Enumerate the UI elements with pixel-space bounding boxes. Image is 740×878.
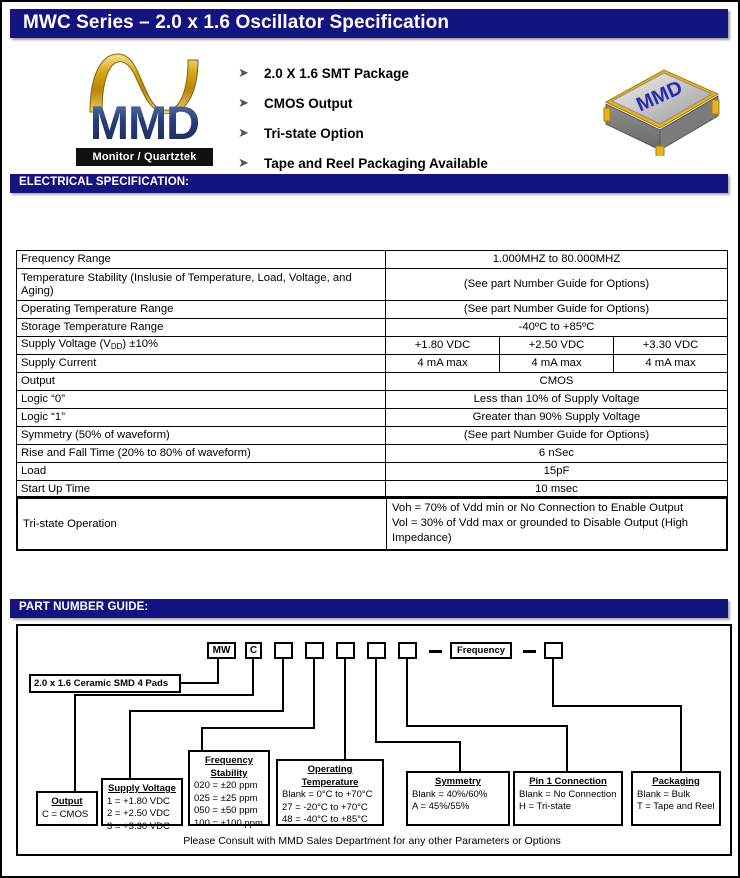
callout-item: Blank = 40%/60% bbox=[412, 789, 504, 802]
list-item: ➤ 2.0 X 1.6 SMT Package bbox=[238, 60, 558, 87]
callout-item: 2 = +2.50 VDC bbox=[107, 808, 177, 821]
spec-value: Less than 10% of Supply Voltage bbox=[386, 391, 728, 409]
logo-tagline: Monitor / Quartztek bbox=[76, 148, 213, 166]
pn-box-mw: MW bbox=[207, 642, 236, 659]
spec-value: 4 mA max bbox=[386, 355, 500, 373]
callout-item: T = Tape and Reel bbox=[637, 801, 715, 814]
spec-value: (See part Number Guide for Options) bbox=[386, 301, 728, 319]
spec-value: +2.50 VDC bbox=[500, 337, 614, 355]
electrical-spec-table: Frequency Range 1.000MHZ to 80.000MHZ Te… bbox=[16, 250, 728, 499]
list-item: ➤ Tri-state Option bbox=[238, 120, 558, 147]
table-row: Tri-state Operation Voh = 70% of Vdd min… bbox=[17, 497, 727, 550]
spec-param: Logic “0” bbox=[17, 391, 386, 409]
list-item: ➤ Tape and Reel Packaging Available bbox=[238, 150, 558, 177]
title-bar: MWC Series – 2.0 x 1.6 Oscillator Specif… bbox=[10, 9, 728, 38]
table-row: Load 15pF bbox=[17, 463, 728, 481]
spec-value: 4 mA max bbox=[614, 355, 728, 373]
callout-item: A = 45%/55% bbox=[412, 801, 504, 814]
part-number-guide-diagram: MW C Frequency 2.0 x 1.6 Ceramic SMD 4 P… bbox=[16, 624, 732, 856]
callout-item: 050 = ±50 ppm bbox=[194, 805, 264, 818]
table-row: Symmetry (50% of waveform) (See part Num… bbox=[17, 427, 728, 445]
pn-box-packaging bbox=[544, 642, 563, 659]
arrow-bullet-icon: ➤ bbox=[238, 96, 264, 111]
callout-pin1-connection: Pin 1 Connection Blank = No Connection H… bbox=[513, 771, 623, 826]
list-item: ➤ CMOS Output bbox=[238, 90, 558, 117]
arrow-bullet-icon: ➤ bbox=[238, 156, 264, 171]
vdd-subscript: DD bbox=[111, 342, 123, 351]
spec-param: Operating Temperature Range bbox=[17, 301, 386, 319]
pn-dash-1 bbox=[429, 650, 442, 653]
callout-title: Output bbox=[42, 796, 92, 809]
bullet-label: CMOS Output bbox=[264, 96, 352, 111]
pn-box-6 bbox=[367, 642, 386, 659]
spec-param: Logic “1” bbox=[17, 409, 386, 427]
callout-packaging: Packaging Blank = Bulk T = Tape and Reel bbox=[631, 771, 721, 826]
tristate-value: Voh = 70% of Vdd min or No Connection to… bbox=[387, 497, 728, 550]
mmd-logo: MMD Monitor / Quartztek bbox=[62, 52, 227, 168]
table-row: Operating Temperature Range (See part Nu… bbox=[17, 301, 728, 319]
callout-item: Blank = No Connection bbox=[519, 789, 617, 802]
tristate-param: Tri-state Operation bbox=[17, 497, 387, 550]
callout-item: 48 = -40°C to +85°C bbox=[282, 814, 378, 827]
oscillator-package-image: MMD bbox=[598, 60, 726, 156]
table-row: Storage Temperature Range -40ºC to +85ºC bbox=[17, 319, 728, 337]
table-row: Supply Voltage (VDD) ±10% +1.80 VDC +2.5… bbox=[17, 337, 728, 355]
leader-b3-v2 bbox=[129, 710, 131, 780]
callout-frequency-stability: Frequency Stability 020 = ±20 ppm 025 = … bbox=[188, 750, 270, 826]
table-row: Temperature Stability (Inslusie of Tempe… bbox=[17, 269, 728, 301]
callout-operating-temperature: Operating Temperature Blank = 0°C to +70… bbox=[276, 759, 384, 826]
leader-b4-h bbox=[201, 727, 315, 729]
spec-param: Supply Voltage (VDD) ±10% bbox=[17, 337, 386, 355]
bullet-label: 2.0 X 1.6 SMT Package bbox=[264, 66, 409, 81]
pn-box-4 bbox=[305, 642, 324, 659]
callout-item: C = CMOS bbox=[42, 809, 92, 822]
tristate-line-2: Vol = 30% of Vdd max or grounded to Disa… bbox=[392, 517, 688, 544]
pn-box-3 bbox=[274, 642, 293, 659]
leader-pk-h bbox=[552, 705, 682, 707]
datasheet-page: MWC Series – 2.0 x 1.6 Oscillator Specif… bbox=[0, 0, 740, 878]
spec-param: Frequency Range bbox=[17, 251, 386, 269]
callout-item: 1 = +1.80 VDC bbox=[107, 796, 177, 809]
tristate-line-1: Voh = 70% of Vdd min or No Connection to… bbox=[392, 502, 683, 514]
callout-title-2: Stability bbox=[194, 768, 264, 781]
spec-param: Storage Temperature Range bbox=[17, 319, 386, 337]
spec-value: 1.000MHZ to 80.000MHZ bbox=[386, 251, 728, 269]
table-row: Logic “0” Less than 10% of Supply Voltag… bbox=[17, 391, 728, 409]
leader-c-h bbox=[74, 694, 254, 696]
section-title: ELECTRICAL SPECIFICATION: bbox=[19, 176, 189, 188]
feature-bullet-list: ➤ 2.0 X 1.6 SMT Package ➤ CMOS Output ➤ … bbox=[238, 60, 558, 180]
callout-item: Blank = 0°C to +70°C bbox=[282, 789, 378, 802]
callout-symmetry: Symmetry Blank = 40%/60% A = 45%/55% bbox=[406, 771, 510, 826]
arrow-bullet-icon: ➤ bbox=[238, 126, 264, 141]
spec-param: Temperature Stability (Inslusie of Tempe… bbox=[17, 269, 386, 301]
leader-pk-v1 bbox=[552, 659, 554, 707]
spec-value: -40ºC to +85ºC bbox=[386, 319, 728, 337]
callout-item: 020 = ±20 ppm bbox=[194, 780, 264, 793]
table-row: Supply Current 4 mA max 4 mA max 4 mA ma… bbox=[17, 355, 728, 373]
tristate-operation-table: Tri-state Operation Voh = 70% of Vdd min… bbox=[16, 496, 728, 551]
logo-wordmark: MMD bbox=[62, 100, 227, 145]
page-title: MWC Series – 2.0 x 1.6 Oscillator Specif… bbox=[23, 12, 449, 34]
callout-title-2: Temperature bbox=[282, 777, 378, 790]
spec-param: Rise and Fall Time (20% to 80% of wavefo… bbox=[17, 445, 386, 463]
callout-item: 100 = ±100 ppm bbox=[194, 818, 264, 831]
table-row: Rise and Fall Time (20% to 80% of wavefo… bbox=[17, 445, 728, 463]
spec-param: Supply Current bbox=[17, 355, 386, 373]
spec-value: 15pF bbox=[386, 463, 728, 481]
spec-value: CMOS bbox=[386, 373, 728, 391]
callout-supply-voltage: Supply Voltage 1 = +1.80 VDC 2 = +2.50 V… bbox=[101, 778, 183, 826]
footer-note: Please Consult with MMD Sales Department… bbox=[2, 835, 740, 847]
pn-box-7 bbox=[398, 642, 417, 659]
leader-b4-v2 bbox=[201, 727, 203, 751]
callout-title: Operating bbox=[282, 764, 378, 777]
callout-title: Packaging bbox=[637, 776, 715, 789]
leader-c-v1 bbox=[252, 659, 254, 696]
section-header-part-number-guide: PART NUMBER GUIDE: bbox=[10, 599, 728, 618]
spec-value: +1.80 VDC bbox=[386, 337, 500, 355]
spec-value: 6 nSec bbox=[386, 445, 728, 463]
spec-value: (See part Number Guide for Options) bbox=[386, 427, 728, 445]
bullet-label: Tri-state Option bbox=[264, 126, 364, 141]
callout-item: 27 = -20°C to +70°C bbox=[282, 802, 378, 815]
spec-param: Load bbox=[17, 463, 386, 481]
spec-value: 4 mA max bbox=[500, 355, 614, 373]
callout-item: 025 = ±25 ppm bbox=[194, 793, 264, 806]
section-title: PART NUMBER GUIDE: bbox=[19, 601, 148, 613]
spec-value: Greater than 90% Supply Voltage bbox=[386, 409, 728, 427]
bullet-label: Tape and Reel Packaging Available bbox=[264, 156, 488, 171]
table-row: Output CMOS bbox=[17, 373, 728, 391]
leader-b6-h bbox=[375, 741, 461, 743]
callout-item: H = Tri-state bbox=[519, 801, 617, 814]
leader-b7-v1 bbox=[406, 659, 408, 727]
callout-title: Symmetry bbox=[412, 776, 504, 789]
pn-box-frequency: Frequency bbox=[450, 642, 512, 659]
hero-section: MMD Monitor / Quartztek ➤ 2.0 X 1.6 SMT … bbox=[10, 42, 728, 172]
section-header-electrical: ELECTRICAL SPECIFICATION: bbox=[10, 174, 728, 193]
pn-box-5 bbox=[336, 642, 355, 659]
leader-b7-v2 bbox=[566, 725, 568, 772]
callout-title: Supply Voltage bbox=[107, 783, 177, 796]
callout-title: Pin 1 Connection bbox=[519, 776, 617, 789]
leader-b7-h bbox=[406, 725, 568, 727]
spec-value: +3.30 VDC bbox=[614, 337, 728, 355]
spec-value: (See part Number Guide for Options) bbox=[386, 269, 728, 301]
callout-item: 3 = +3.30 VDC bbox=[107, 821, 177, 834]
leader-package-v bbox=[217, 659, 219, 684]
spec-param: Output bbox=[17, 373, 386, 391]
pn-dash-2 bbox=[523, 650, 536, 653]
table-row: Frequency Range 1.000MHZ to 80.000MHZ bbox=[17, 251, 728, 269]
leader-package-h bbox=[181, 682, 219, 684]
leader-b3-h bbox=[129, 710, 284, 712]
leader-c-v2 bbox=[74, 694, 76, 793]
pn-box-c: C bbox=[245, 642, 262, 659]
table-row: Logic “1” Greater than 90% Supply Voltag… bbox=[17, 409, 728, 427]
callout-item: Blank = Bulk bbox=[637, 789, 715, 802]
spec-param: Symmetry (50% of waveform) bbox=[17, 427, 386, 445]
callout-output: Output C = CMOS bbox=[36, 791, 98, 826]
leader-b4-v1 bbox=[313, 659, 315, 729]
callout-title: Frequency bbox=[194, 755, 264, 768]
arrow-bullet-icon: ➤ bbox=[238, 66, 264, 81]
leader-b6-v1 bbox=[375, 659, 377, 743]
leader-b6-v2 bbox=[459, 741, 461, 772]
leader-b5-v bbox=[344, 659, 346, 761]
callout-package: 2.0 x 1.6 Ceramic SMD 4 Pads bbox=[29, 674, 181, 693]
leader-b3-v1 bbox=[282, 659, 284, 712]
leader-pk-v2 bbox=[680, 705, 682, 772]
